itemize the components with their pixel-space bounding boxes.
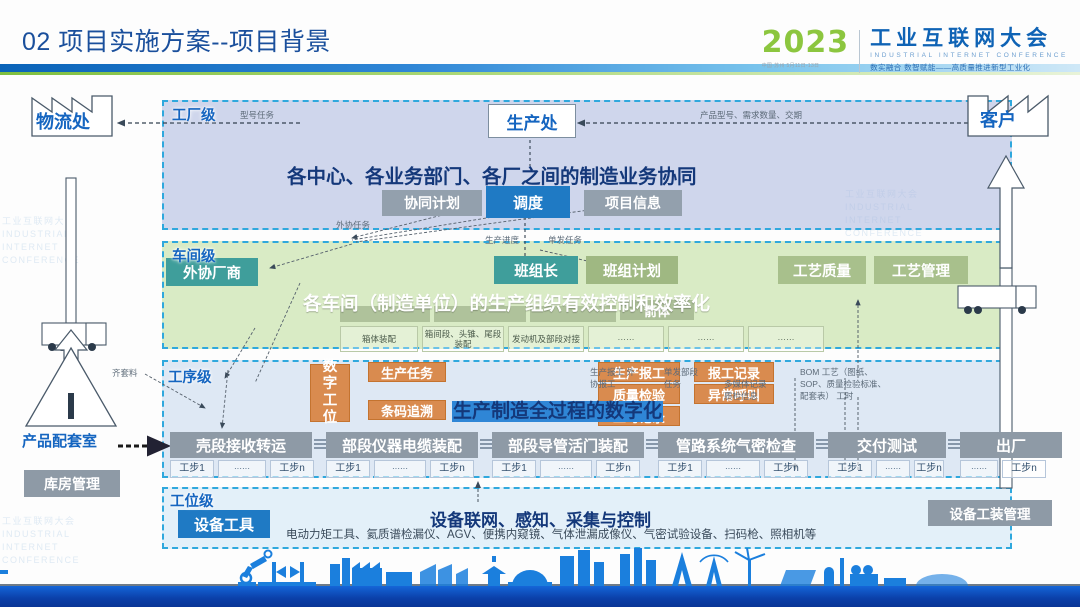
- node-customer-label: 客户: [980, 106, 1016, 132]
- node-warehouse-chip[interactable]: 库房管理: [24, 470, 120, 497]
- process-flow-4[interactable]: 交付测试: [828, 432, 946, 458]
- process-digital-station-chip[interactable]: 数字工位: [310, 364, 350, 422]
- step-box[interactable]: 工步1: [658, 460, 702, 478]
- logo-divider: [859, 30, 860, 73]
- footer-skyline: [0, 548, 1080, 607]
- workshop-subbox-0[interactable]: 箱体装配: [340, 326, 418, 352]
- station-banner: 设备联网、感知、采集与控制: [430, 506, 651, 531]
- step-box[interactable]: 工步n: [430, 460, 474, 478]
- logo-title-en: INDUSTRIAL INTERNET CONFERENCE: [870, 52, 1068, 59]
- tank-icon: [824, 572, 834, 586]
- factory-chip-2[interactable]: 项目信息: [584, 190, 682, 216]
- skyline-icons: [0, 548, 1080, 588]
- eiffel-icon: [672, 552, 692, 586]
- step-box[interactable]: 工步n: [1002, 460, 1046, 478]
- node-product-room-label: 产品配套室: [22, 430, 97, 451]
- process-digital-station-label: 数字工位: [320, 359, 340, 427]
- annotation-outsourcing-task: 外协任务: [336, 220, 370, 231]
- annotation-bom-process: BOM 工艺（图纸、SOP、质量检验标准、配套表） 工时: [800, 366, 886, 402]
- step-box[interactable]: 工步n: [764, 460, 808, 478]
- process-banner: 生产制造全过程的数字化: [452, 396, 663, 423]
- bridge-icon: [916, 574, 968, 586]
- workshop-chip-1[interactable]: 班组计划: [586, 256, 678, 284]
- annotation-model-task: 型号任务: [240, 110, 274, 121]
- workshop-subbox-5[interactable]: ······: [748, 326, 824, 352]
- solar-panel-icon: [780, 570, 816, 586]
- workshop-chip-2[interactable]: 工艺质量: [778, 256, 866, 284]
- slide-root: 02 项目实施方案--项目背景 2023 中国·苏州 5月11日-13日 工业互…: [0, 0, 1080, 607]
- wind-turbine-icon: [748, 560, 751, 586]
- step-box[interactable]: ······: [374, 460, 426, 478]
- step-box[interactable]: 工步1: [326, 460, 370, 478]
- step-box[interactable]: ······: [960, 460, 998, 478]
- factory-banner: 各中心、各业务部门、各厂之间的制造业务协同: [287, 160, 697, 189]
- node-equipment-mgmt-chip[interactable]: 设备工装管理: [928, 500, 1052, 526]
- logo-text-block: 工业互联网大会 INDUSTRIAL INTERNET CONFERENCE 数…: [870, 28, 1068, 73]
- node-logistics-label: 物流处: [36, 108, 90, 134]
- workshop-banner: 各车间（制造单位）的生产组织有效控制和效率化: [303, 290, 710, 316]
- step-box[interactable]: 工步n: [914, 460, 944, 478]
- process-flow-0[interactable]: 壳段接收转运: [170, 432, 312, 458]
- footer-gradient: [0, 586, 1080, 607]
- annotation-product-demand: 产品型号、需求数量、交期: [700, 110, 802, 121]
- workshop-chip-3[interactable]: 工艺管理: [874, 256, 968, 284]
- step-box[interactable]: ······: [218, 460, 266, 478]
- process-flow-1[interactable]: 部段仪器电缆装配: [326, 432, 478, 458]
- factory-top-node[interactable]: 生产处: [488, 104, 576, 138]
- step-box[interactable]: 工步1: [170, 460, 214, 478]
- process-orange-chip-0[interactable]: 生产任务: [368, 362, 446, 382]
- annotation-media-record: 多媒体记录 质检信息: [724, 378, 770, 402]
- station-equipment-chip[interactable]: 设备工具: [178, 510, 270, 538]
- logo-title-cn: 工业互联网大会: [870, 28, 1068, 49]
- crane-icon: [420, 564, 436, 586]
- annotation-report-work: 生产报工 外协报工: [590, 366, 642, 390]
- logo-year-subtitle: 中国·苏州 5月11日-13日: [762, 62, 850, 69]
- level-process-tag: 工序级: [168, 366, 212, 387]
- annotation-production-progress: 生产进度: [485, 235, 519, 246]
- factory-chip-0[interactable]: 协同计划: [382, 190, 482, 216]
- radio-tower-icon: [706, 556, 722, 586]
- conference-logo: 2023 中国·苏州 5月11日-13日 工业互联网大会 INDUSTRIAL …: [762, 28, 1068, 73]
- process-banner-text: 生产制造全过程的数字化: [452, 401, 663, 422]
- workshop-subbox-1[interactable]: 箱间段、头锥、尾段装配: [422, 326, 504, 352]
- level-factory-tag: 工厂级: [172, 104, 216, 125]
- page-title: 02 项目实施方案--项目背景: [22, 22, 331, 58]
- annotation-kitting-material: 齐套料: [112, 368, 138, 379]
- step-box[interactable]: ······: [876, 460, 910, 478]
- step-box[interactable]: ······: [540, 460, 592, 478]
- process-flow-3[interactable]: 管路系统气密检查: [658, 432, 814, 458]
- logo-year-block: 2023 中国·苏州 5月11日-13日: [762, 28, 850, 69]
- tower-icon: [560, 556, 574, 586]
- step-box[interactable]: 工步1: [828, 460, 872, 478]
- annotation-single-task: 单发任务: [548, 235, 582, 246]
- process-flow-5[interactable]: 出厂: [960, 432, 1062, 458]
- logo-year: 2023: [762, 28, 850, 58]
- logo-slogan: 数实融合 数智赋能——高质量推进新型工业化: [870, 62, 1068, 73]
- level-station-tag: 工位级: [170, 490, 214, 511]
- workshop-subbox-3[interactable]: ······: [588, 326, 664, 352]
- level-workshop-tag: 车间级: [172, 245, 216, 266]
- step-box[interactable]: 工步1: [492, 460, 536, 478]
- step-box[interactable]: 工步n: [596, 460, 640, 478]
- factory-chip-1[interactable]: 调度: [486, 186, 570, 218]
- valve-icon: [276, 566, 286, 578]
- step-box[interactable]: ······: [706, 460, 760, 478]
- process-flow-2[interactable]: 部段导管活门装配: [492, 432, 644, 458]
- workshop-subbox-4[interactable]: ······: [668, 326, 744, 352]
- step-box[interactable]: 工步n: [270, 460, 314, 478]
- process-orange-chip-1[interactable]: 条码追溯: [368, 400, 446, 420]
- robot-arm-icon: [250, 556, 267, 569]
- workshop-chip-0[interactable]: 班组长: [494, 256, 578, 284]
- pagoda-icon: [482, 566, 506, 586]
- annotation-single-section-task: 单发部段任务: [664, 366, 698, 390]
- station-desc: 电动力矩工具、氦质谱检漏仪、AGV、便携内窥镜、气体泄漏成像仪、气密试验设备、扫…: [286, 530, 816, 541]
- workshop-subbox-2[interactable]: 发动机及部段对接: [508, 326, 584, 352]
- diagram-canvas: 物流处 客户 产品配套室 库房管理 设备工装管理 工厂级 生产处 各中心、各业务…: [0, 78, 1080, 548]
